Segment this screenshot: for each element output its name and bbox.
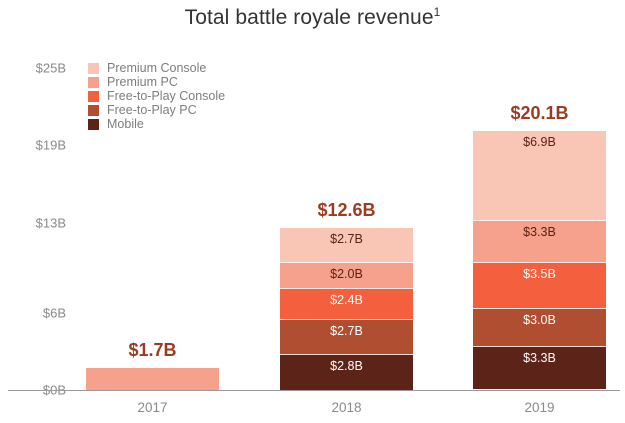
- x-axis-tick-label: 2019: [473, 400, 606, 415]
- bar-segment[interactable]: $2.7B: [280, 228, 413, 263]
- bar-segment[interactable]: $3.5B: [473, 262, 606, 307]
- x-axis-baseline: [8, 390, 620, 391]
- legend-item[interactable]: Premium Console: [88, 61, 225, 75]
- legend-item[interactable]: Premium PC: [88, 75, 225, 89]
- y-axis-tick-label: $6B: [10, 305, 66, 320]
- chart-title-text: Total battle royale revenue: [185, 6, 434, 29]
- bar-segment[interactable]: $2.7B: [280, 319, 413, 354]
- legend-item-label: Free-to-Play PC: [107, 103, 197, 117]
- bar-stack: $6.9B$3.3B$3.5B$3.0B$3.3B: [473, 131, 606, 390]
- bar-segment[interactable]: $2.8B: [280, 354, 413, 390]
- bar-segment-value-label: $2.8B: [280, 360, 413, 373]
- bar-segment[interactable]: $3.3B: [473, 346, 606, 389]
- bar-segment-value-label: $3.5B: [473, 268, 606, 281]
- bar-segment-value-label: $2.4B: [280, 294, 413, 307]
- bar-total-label: $20.1B: [473, 103, 606, 124]
- bar-segment-value-label: $3.3B: [473, 352, 606, 365]
- bar-stack: [86, 368, 219, 390]
- bar-segment-value-label: $6.9B: [473, 136, 606, 149]
- y-axis-tick-label: $13B: [10, 215, 66, 230]
- title-footnote-marker: 1: [434, 5, 441, 19]
- bar-group-2018[interactable]: $12.6B$2.7B$2.0B$2.4B$2.7B$2.8B2018: [280, 228, 413, 390]
- bar-segment-value-label: $3.0B: [473, 314, 606, 327]
- legend-item-label: Premium Console: [107, 61, 206, 75]
- legend-item-label: Mobile: [107, 117, 144, 131]
- bar-segment[interactable]: $2.4B: [280, 288, 413, 319]
- bar-segment-value-label: $2.0B: [280, 268, 413, 281]
- legend-swatch-icon: [88, 63, 99, 74]
- x-axis-tick-label: 2018: [280, 400, 413, 415]
- legend-item[interactable]: Mobile: [88, 117, 225, 131]
- legend-swatch-icon: [88, 91, 99, 102]
- bar-segment-value-label: $3.3B: [473, 226, 606, 239]
- bar-group-2017[interactable]: $1.7B2017: [86, 368, 219, 390]
- legend-item[interactable]: Free-to-Play PC: [88, 103, 225, 117]
- bar-group-2019[interactable]: $20.1B$6.9B$3.3B$3.5B$3.0B$3.3B2019: [473, 131, 606, 390]
- y-axis: $0B$6B$13B$19B$25B: [0, 0, 66, 423]
- legend-swatch-icon: [88, 119, 99, 130]
- bar-segment[interactable]: $6.9B: [473, 131, 606, 220]
- y-axis-tick-label: $25B: [10, 61, 66, 76]
- chart-legend: Premium ConsolePremium PCFree-to-Play Co…: [88, 61, 225, 131]
- bar-total-label: $1.7B: [86, 340, 219, 361]
- bar-segment[interactable]: [86, 368, 219, 390]
- legend-item-label: Premium PC: [107, 75, 178, 89]
- bar-segment[interactable]: $3.3B: [473, 220, 606, 263]
- legend-swatch-icon: [88, 77, 99, 88]
- legend-item[interactable]: Free-to-Play Console: [88, 89, 225, 103]
- legend-swatch-icon: [88, 105, 99, 116]
- chart-plot-area: Total battle royale revenue1 $0B$6B$13B$…: [0, 0, 625, 423]
- x-axis-tick-label: 2017: [86, 400, 219, 415]
- legend-item-label: Free-to-Play Console: [107, 89, 225, 103]
- bar-segment[interactable]: $2.0B: [280, 262, 413, 288]
- bar-segment-value-label: $2.7B: [280, 233, 413, 246]
- bar-stack: $2.7B$2.0B$2.4B$2.7B$2.8B: [280, 228, 413, 390]
- page-title: Total battle royale revenue1: [0, 6, 625, 30]
- bar-total-label: $12.6B: [280, 200, 413, 221]
- y-axis-tick-label: $19B: [10, 138, 66, 153]
- bar-segment[interactable]: $3.0B: [473, 308, 606, 347]
- bar-segment-value-label: $2.7B: [280, 325, 413, 338]
